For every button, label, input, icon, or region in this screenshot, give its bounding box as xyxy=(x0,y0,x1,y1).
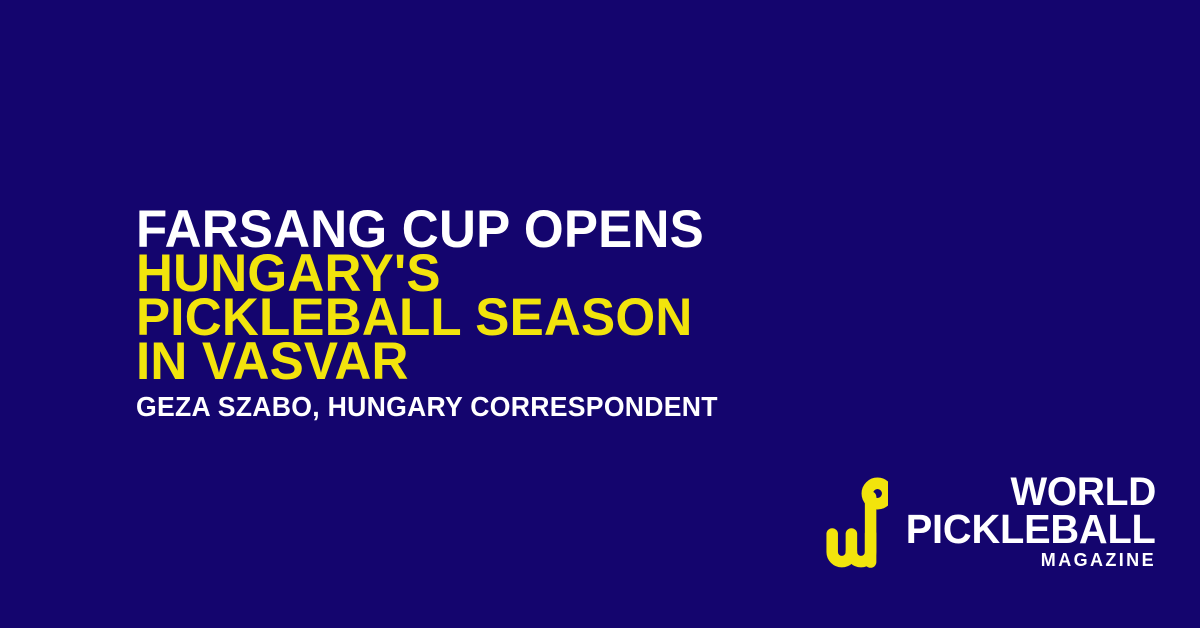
headline-line-4: IN VASVAR xyxy=(136,340,947,384)
brand-logo: WORLD PICKLEBALL MAGAZINE xyxy=(826,474,1156,570)
headline-block: FARSANG CUP OPENS HUNGARY'S PICKLEBALL S… xyxy=(136,208,976,421)
logo-word-pickleball: PICKLEBALL xyxy=(906,511,1156,548)
logo-word-magazine: MAGAZINE xyxy=(1041,551,1156,570)
wp-monogram-icon xyxy=(826,476,888,568)
byline: GEZA SZABO, HUNGARY CORRESPONDENT xyxy=(136,393,934,421)
article-share-card: FARSANG CUP OPENS HUNGARY'S PICKLEBALL S… xyxy=(0,0,1200,628)
logo-wordmark: WORLD PICKLEBALL MAGAZINE xyxy=(898,474,1156,570)
